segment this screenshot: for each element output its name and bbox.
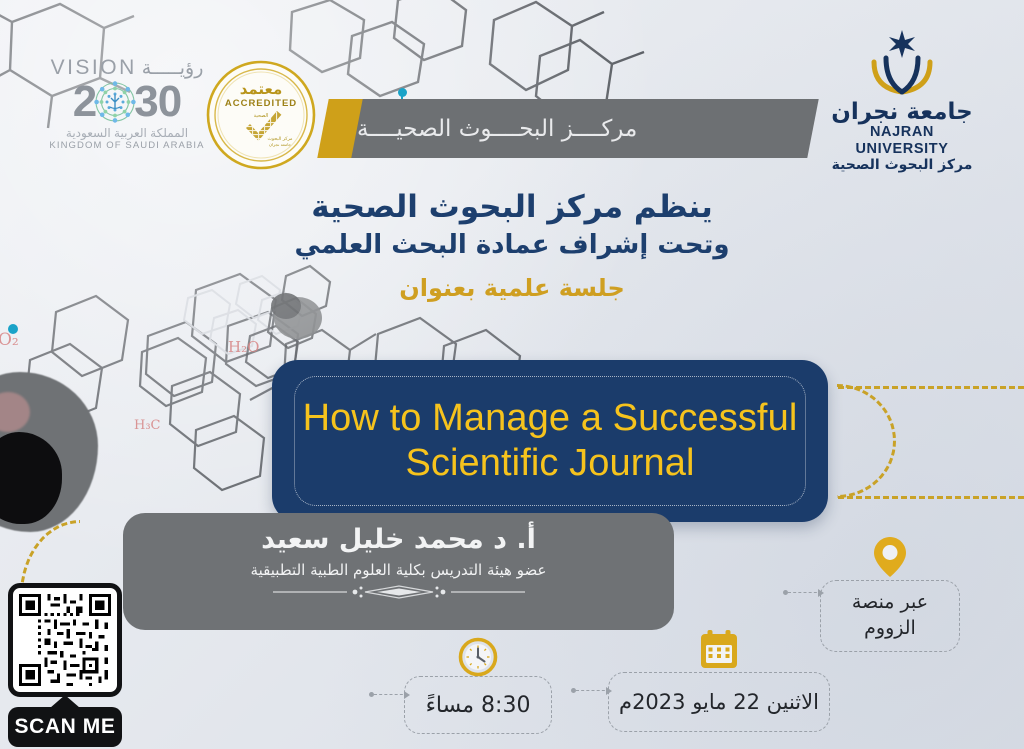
poster-canvas: H₂O O₂ H₃C VISION رؤيـــــة 2 <box>0 0 1024 749</box>
vision-2030-wordmark: VISION رؤيـــــة <box>46 56 208 80</box>
svg-text:ACCREDITED: ACCREDITED <box>225 98 297 109</box>
session-title-card: How to Manage a Successful Scientific Jo… <box>272 360 828 522</box>
qr-code-icon[interactable] <box>8 583 122 697</box>
speaker-card: أ. د محمد خليل سعيد عضو هيئة التدريس بكل… <box>123 513 674 630</box>
date-chip: الاثنين 22 مايو 2023م <box>608 672 830 732</box>
session-title-line2: Scientific Journal <box>405 441 694 486</box>
time-chip-leader <box>374 694 408 695</box>
place-value: عبر منصة الزووم <box>829 590 951 641</box>
clock-icon <box>458 637 498 683</box>
gold-dashed-line-top <box>838 386 1024 389</box>
heading-session: جلسة علمية بعنوان <box>0 273 1024 304</box>
vision-year-right: 30 <box>134 81 181 123</box>
teal-dot-icon <box>8 324 18 334</box>
gold-dashed-line-bottom <box>838 496 1024 499</box>
banner-label: مركــــز البحــــوث الصحيــــة <box>357 99 807 158</box>
time-chip: 8:30 مساءً <box>404 676 552 734</box>
chem-label-h3c: H₃C <box>134 418 161 433</box>
university-name-en: NAJRAN UNIVERSITY <box>822 124 982 157</box>
accredited-seal-icon: معتمد ACCREDITED الصحية مركز البحوث جامع… <box>206 60 316 170</box>
session-title-text: How to Manage a Successful Scientific Jo… <box>272 360 828 522</box>
time-value: 8:30 مساءً <box>426 693 531 718</box>
date-chip-leader <box>576 690 610 691</box>
vision-2030-logo: VISION رؤيـــــة 2 <box>46 56 208 151</box>
session-title-line1: How to Manage a Successful <box>303 396 798 441</box>
university-name-ar: جامعة نجران <box>822 100 982 124</box>
ornamental-divider-icon <box>269 585 529 599</box>
heading-supervision: وتحت إشراف عمادة البحث العلمي <box>0 229 1024 263</box>
najran-university-logo: جامعة نجران NAJRAN UNIVERSITY مركز البحو… <box>822 28 982 174</box>
arabic-headings: ينظم مركز البحوث الصحية وتحت إشراف عمادة… <box>0 188 1024 304</box>
center-name-banner: مركــــز البحــــوث الصحيــــة <box>323 99 813 158</box>
calendar-icon <box>699 629 739 676</box>
saudi-palm-mandala-icon <box>93 80 137 124</box>
location-pin-icon <box>872 535 908 587</box>
svg-text:معتمد: معتمد <box>240 80 283 98</box>
place-chip: عبر منصة الزووم <box>820 580 960 652</box>
vision-subtitle-ar: المملكة العربية السعودية <box>46 126 208 140</box>
place-chip-leader <box>788 592 822 593</box>
date-value: الاثنين 22 مايو 2023م <box>619 690 819 714</box>
chem-label-h2o: H₂O <box>228 338 259 356</box>
speaker-role: عضو هيئة التدريس بكلية العلوم الطبية الت… <box>123 561 674 581</box>
scan-me-label: SCAN ME <box>8 707 122 747</box>
qr-code-block[interactable]: SCAN ME <box>8 583 122 747</box>
vision-subtitle-en: KINGDOM OF SAUDI ARABIA <box>46 140 208 151</box>
university-center-ar: مركز البحوث الصحية <box>822 157 982 174</box>
svg-text:جامعة نجران: جامعة نجران <box>269 142 292 147</box>
vision-year: 2 <box>46 80 208 124</box>
heading-organizer: ينظم مركز البحوث الصحية <box>0 188 1024 227</box>
teal-pin-icon <box>398 88 407 97</box>
najran-university-mark-icon <box>822 28 982 100</box>
svg-text:الصحية: الصحية <box>254 113 269 119</box>
speaker-name: أ. د محمد خليل سعيد <box>123 523 674 557</box>
